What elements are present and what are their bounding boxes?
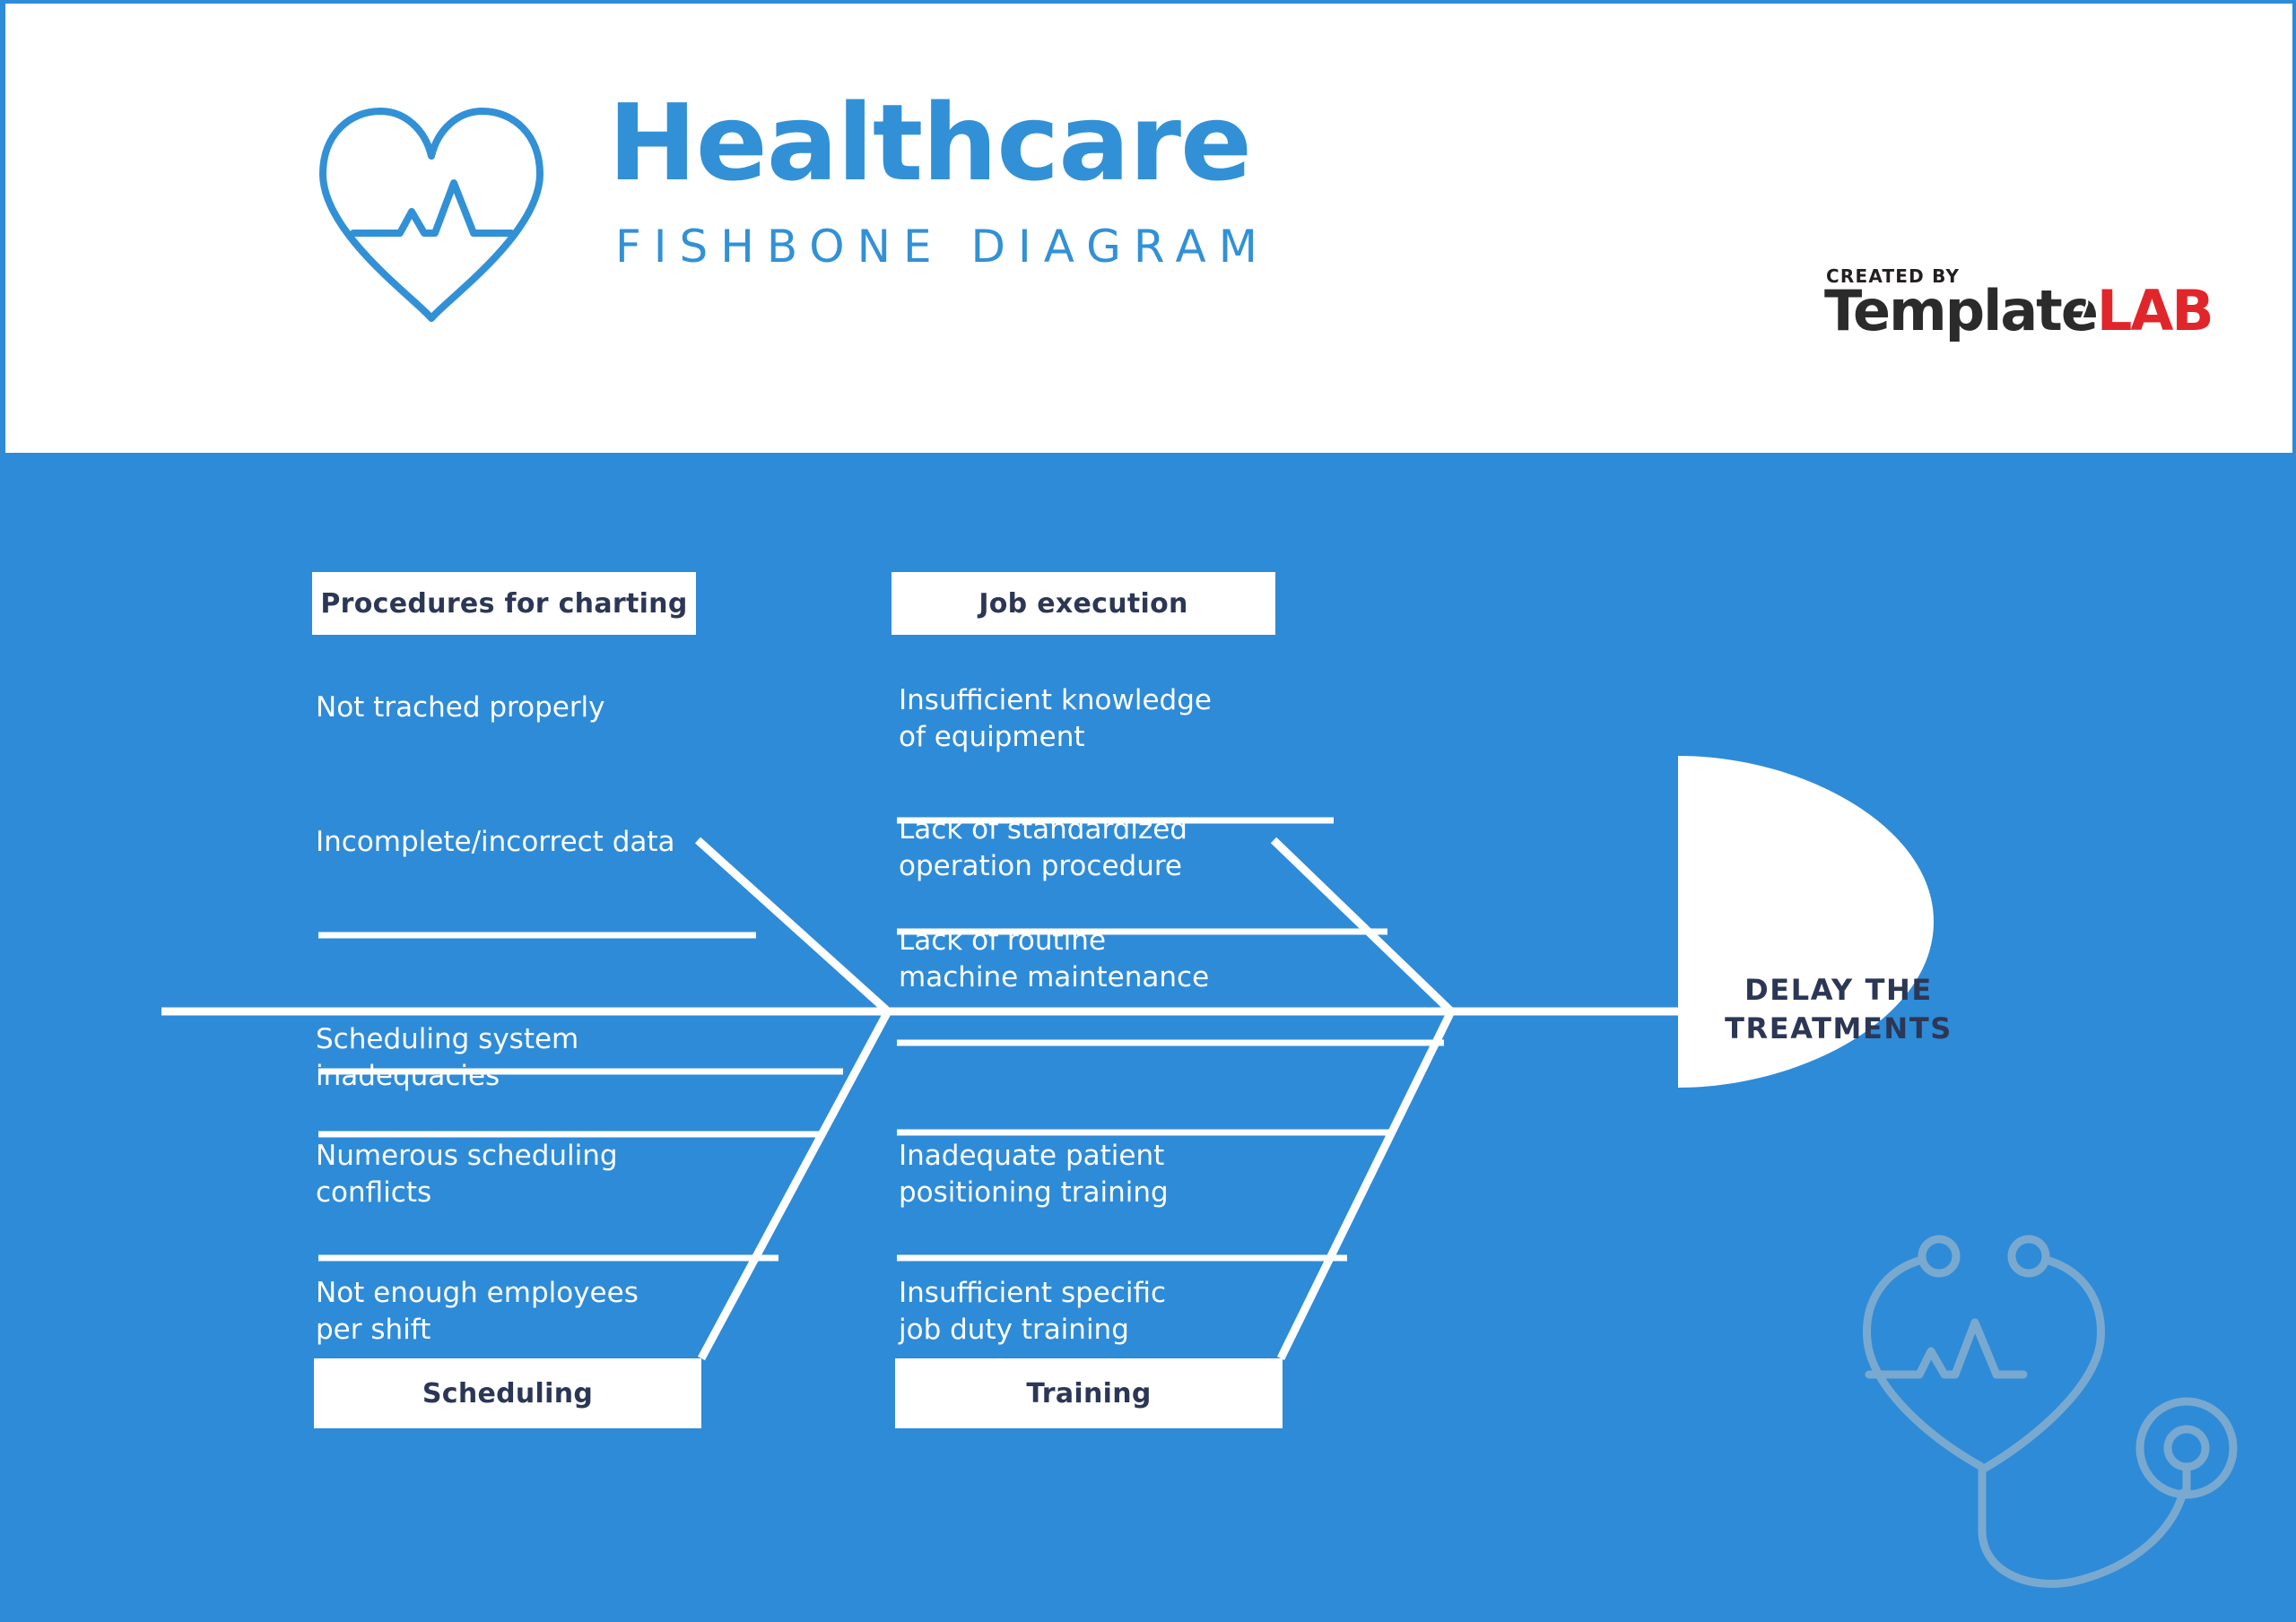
cause-label: Lack of standardized operation procedure <box>899 811 1365 885</box>
header-band: Healthcare FISHBONE DIAGRAM CREATED BY T… <box>5 4 2292 453</box>
brand-wordmark: TemplateLAB <box>1824 283 2213 339</box>
brand-name-red: LAB <box>2097 278 2213 343</box>
category-label: Training <box>1026 1378 1151 1409</box>
category-label: Scheduling <box>422 1378 593 1409</box>
stethoscope-icon <box>1830 1197 2251 1592</box>
category-box-scheduling[interactable]: Scheduling <box>314 1358 701 1428</box>
cause-label: Numerous scheduling conflicts <box>316 1138 782 1211</box>
category-box-procedures-for-charting[interactable]: Procedures for charting <box>312 572 696 635</box>
page-subtitle: FISHBONE DIAGRAM <box>615 221 1270 273</box>
cause-label: Incomplete/incorrect data <box>316 824 818 861</box>
cause-label: Insufficient knowledge of equipment <box>899 682 1365 756</box>
cause-label: Not trached properly <box>316 690 782 726</box>
heart-pulse-icon <box>310 100 552 328</box>
templatelab-logo: CREATED BY TemplateLAB <box>1817 265 2158 343</box>
flask-icon <box>2077 291 2104 326</box>
category-label: Procedures for charting <box>320 588 687 620</box>
category-label: Job execution <box>978 588 1187 620</box>
category-box-training[interactable]: Training <box>895 1358 1283 1428</box>
brand-name-dark: Template <box>1824 278 2097 343</box>
page-title: Healthcare <box>608 90 1270 195</box>
poster-root: Healthcare FISHBONE DIAGRAM CREATED BY T… <box>0 0 2296 1622</box>
cause-label: Inadequate patient positioning training <box>899 1138 1383 1211</box>
title-block: Healthcare FISHBONE DIAGRAM <box>608 90 1270 273</box>
cause-label: Scheduling system inadequacies <box>316 1021 782 1095</box>
category-box-job-execution[interactable]: Job execution <box>891 572 1275 635</box>
cause-label: Insufficient specific job duty training <box>899 1275 1383 1349</box>
cause-label: Lack of routine machine maintenance <box>899 923 1383 996</box>
fishbone-diagram: Procedures for charting Job execution Sc… <box>0 453 2296 1622</box>
bone-diagonal-procedures-for-charting <box>698 840 888 1011</box>
effect-label: DELAY THE TREATMENTS <box>1704 971 1973 1048</box>
cause-label: Not enough employees per shift <box>316 1275 800 1349</box>
